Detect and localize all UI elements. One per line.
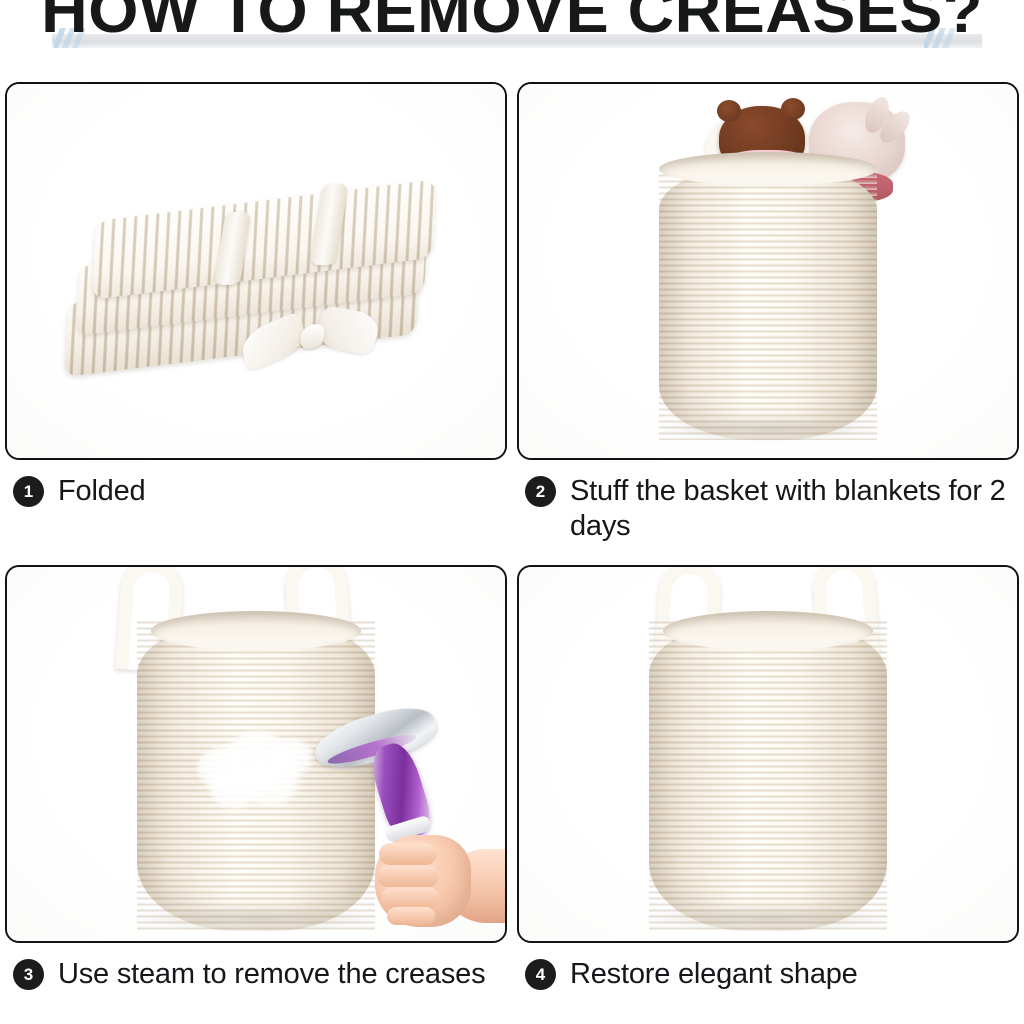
infographic-page: HOW TO REMOVE CREASES? [0,0,1024,1024]
step-caption-text: Folded [58,474,145,509]
header: HOW TO REMOVE CREASES? [0,0,1024,60]
step-card-3: 3 Use steam to remove the creases [5,565,507,992]
step-card-2: 2 Stuff the basket with blankets for 2 d… [517,82,1019,544]
step-number-badge: 3 [13,959,44,990]
step-caption-text: Restore elegant shape [570,957,858,992]
garment-steamer-icon [313,709,493,889]
step-1-image [5,82,507,460]
folded-blanket-illustration [7,84,505,458]
step-2-image [517,82,1019,460]
basket-rim [151,611,361,651]
basket-rim [659,152,877,186]
step-3-caption: 3 Use steam to remove the creases [5,943,507,992]
step-caption-text: Use steam to remove the creases [58,957,485,992]
restored-basket-illustration [519,567,1017,941]
step-number-badge: 1 [13,476,44,507]
step-card-1: 1 Folded [5,82,507,509]
rope-basket [649,619,887,931]
step-4-caption: 4 Restore elegant shape [517,943,1019,992]
steaming-basket-illustration [7,567,505,941]
basket-shadow [653,416,883,442]
step-3-image [5,565,507,943]
basket-shadow [131,905,381,931]
basket-rim [663,611,873,651]
step-2-caption: 2 Stuff the basket with blankets for 2 d… [517,460,1019,544]
step-number-badge: 4 [525,959,556,990]
step-caption-text: Stuff the basket with blankets for 2 day… [570,474,1015,544]
page-title: HOW TO REMOVE CREASES? [0,0,1024,43]
step-card-4: 4 Restore elegant shape [517,565,1019,992]
stuffed-basket-illustration [519,84,1017,458]
basket-shadow [643,905,893,931]
step-number-badge: 2 [525,476,556,507]
hand-icon [375,829,507,939]
step-4-image [517,565,1019,943]
step-1-caption: 1 Folded [5,460,507,509]
steps-grid: 1 Folded [0,60,1024,1024]
rope-basket [659,166,877,440]
